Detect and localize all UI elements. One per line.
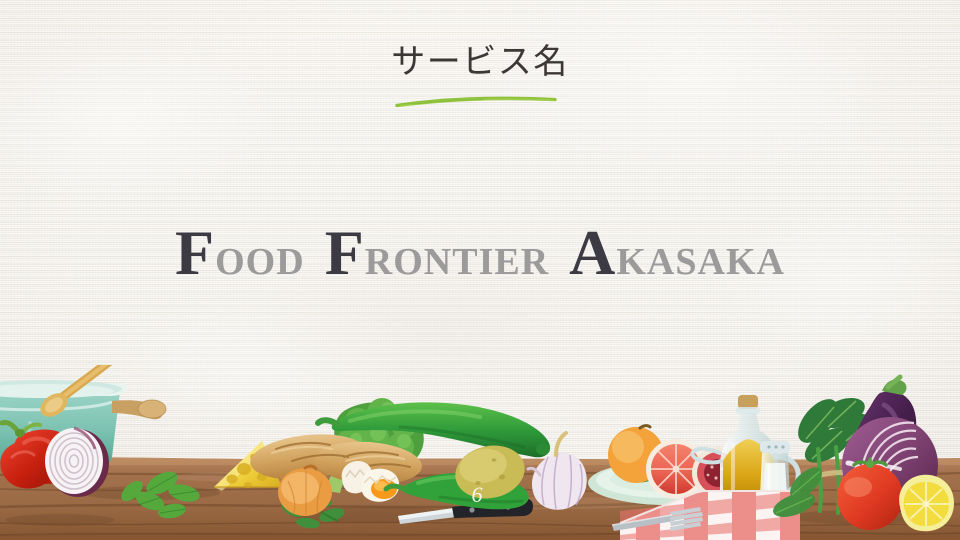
brand-title-word-2-cap: F [325, 217, 365, 288]
brand-title-word-3-cap: A [569, 217, 616, 288]
brand-title: FoodFrontierAkasaka [0, 222, 960, 287]
presentation-slide: サービス名 FoodFrontierAkasaka [0, 0, 960, 540]
service-name-heading: サービス名 [0, 40, 960, 84]
green-brush-underline-icon [395, 95, 565, 109]
lemon-half [899, 475, 954, 531]
heading-block: サービス名 [0, 40, 960, 109]
food-illustration: 6 [0, 365, 960, 540]
watermark-number: 6 [472, 482, 483, 507]
brand-title-word-3-rest: kasaka [616, 226, 785, 286]
brand-title-word-1-rest: ood [215, 226, 305, 286]
title-block: FoodFrontierAkasaka [0, 222, 960, 287]
brand-title-word-1-cap: F [175, 217, 215, 288]
brand-title-word-2-rest: rontier [365, 226, 549, 286]
